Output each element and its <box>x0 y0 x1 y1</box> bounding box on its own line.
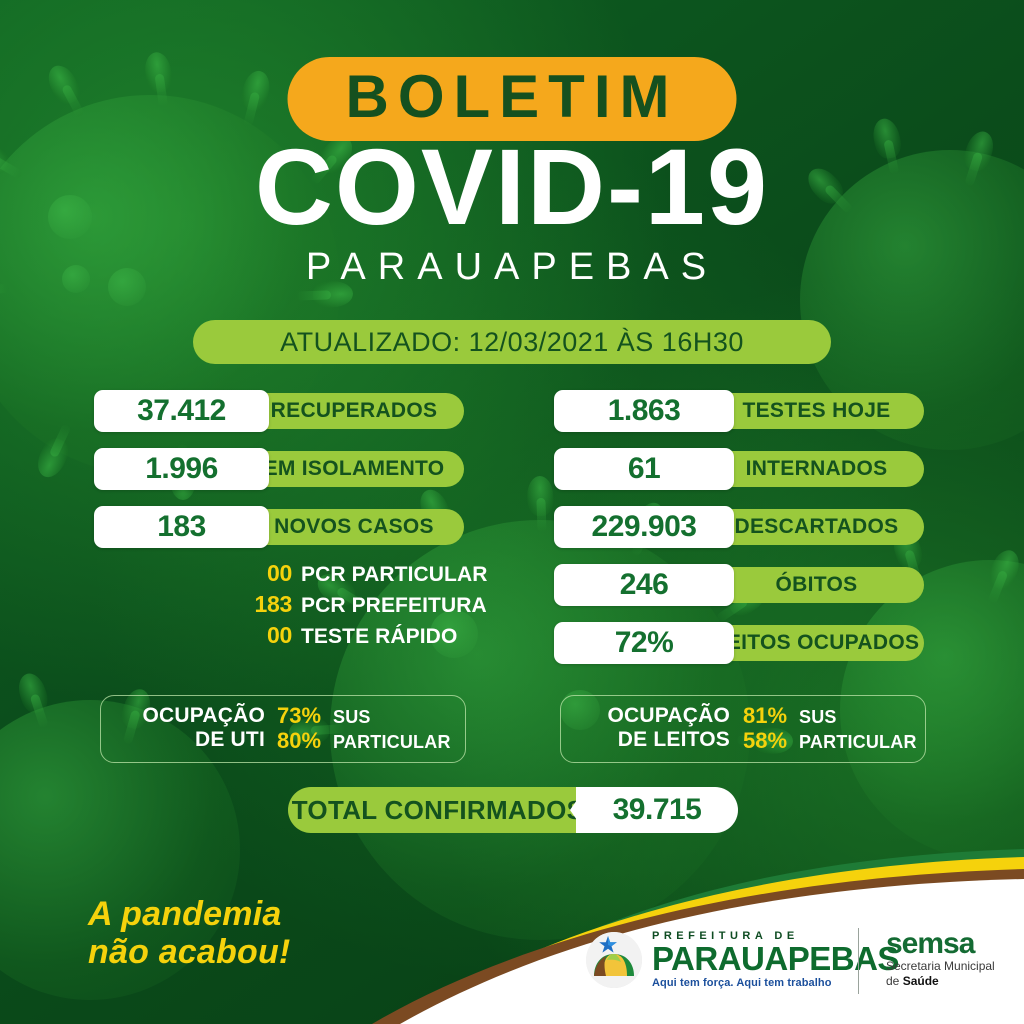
virus-spike-icon <box>43 61 85 109</box>
pcr-count: 00 <box>240 622 292 649</box>
occupancy-percent: 73% <box>277 704 333 728</box>
stat-row: LEITOS OCUPADOS 72% <box>554 622 924 662</box>
stat-row: RECUPERADOS 37.412 <box>94 390 464 430</box>
stat-label: EM ISOLAMENTO <box>264 457 445 481</box>
footer-logos: PREFEITURA DE PARAUAPEBAS Aqui tem força… <box>586 924 1006 1002</box>
stat-label-pill: DESCARTADOS <box>709 509 924 545</box>
stat-row: TESTES HOJE 1.863 <box>554 390 924 430</box>
occupancy-leitos-title-line1: OCUPAÇÃO <box>575 704 730 728</box>
stat-label: LEITOS OCUPADOS <box>714 631 920 655</box>
semsa-logo: semsa Secretaria Municipal de Saúde <box>886 928 995 989</box>
stat-value: 1.863 <box>608 394 681 428</box>
city-subtitle: PARAUAPEBAS <box>0 248 1024 286</box>
stat-value-box: 246 <box>554 564 734 606</box>
stats-column-right: TESTES HOJE 1.863 INTERNADOS 61 DESCARTA… <box>554 390 924 680</box>
stat-row: EM ISOLAMENTO 1.996 <box>94 448 464 488</box>
stat-label-pill: LEITOS OCUPADOS <box>709 625 924 661</box>
stat-value-box: 229.903 <box>554 506 734 548</box>
pcr-label: PCR PREFEITURA <box>301 594 487 618</box>
updated-timestamp-pill: ATUALIZADO: 12/03/2021 ÀS 16H30 <box>193 320 831 364</box>
occupancy-uti-title: OCUPAÇÃO DE UTI <box>115 704 265 752</box>
occupancy-row: 80% PARTICULAR <box>277 729 451 754</box>
occupancy-type: PARTICULAR <box>333 730 451 754</box>
virus-spike-icon <box>32 435 72 482</box>
occupancy-leitos-rows: 81% SUS 58% PARTICULAR <box>743 704 917 754</box>
stat-row: DESCARTADOS 229.903 <box>554 506 924 546</box>
stat-label: NOVOS CASOS <box>274 515 434 539</box>
stat-row: NOVOS CASOS 183 <box>94 506 464 546</box>
stat-label: INTERNADOS <box>746 457 888 481</box>
stat-value: 37.412 <box>137 394 226 428</box>
stat-label-pill: NOVOS CASOS <box>244 509 464 545</box>
pcr-breakdown-item: 00 PCR PARTICULAR <box>240 560 500 587</box>
stat-value-box: 1.863 <box>554 390 734 432</box>
prefeitura-logo-icon <box>586 932 642 988</box>
prefeitura-wordmark: PREFEITURA DE PARAUAPEBAS Aqui tem força… <box>652 930 899 990</box>
prefeitura-tagline: Aqui tem força. Aqui tem trabalho <box>652 976 899 990</box>
stat-label: DESCARTADOS <box>735 515 899 539</box>
footer-divider <box>858 928 859 994</box>
stat-value: 1.996 <box>145 452 218 486</box>
total-confirmed-value: 39.715 <box>613 793 702 827</box>
occupancy-uti-rows: 73% SUS 80% PARTICULAR <box>277 704 451 754</box>
total-confirmed-label-pill: TOTAL CONFIRMADOS <box>288 787 588 833</box>
stats-column-left: RECUPERADOS 37.412 EM ISOLAMENTO 1.996 N… <box>94 390 464 564</box>
stat-label: RECUPERADOS <box>271 399 438 423</box>
stat-value-box: 1.996 <box>94 448 269 490</box>
stat-label-pill: RECUPERADOS <box>244 393 464 429</box>
occupancy-percent: 80% <box>277 729 333 753</box>
stat-value-box: 61 <box>554 448 734 490</box>
footer: PREFEITURA DE PARAUAPEBAS Aqui tem força… <box>0 849 1024 1024</box>
stat-value-box: 37.412 <box>94 390 269 432</box>
pcr-breakdown-item: 183 PCR PREFEITURA <box>240 591 500 618</box>
virus-spike-icon <box>985 546 1024 593</box>
stat-label-pill: INTERNADOS <box>709 451 924 487</box>
stat-value: 183 <box>157 510 206 544</box>
updated-timestamp-text: ATUALIZADO: 12/03/2021 ÀS 16H30 <box>280 327 744 357</box>
stat-label-pill: TESTES HOJE <box>709 393 924 429</box>
semsa-line1: Secretaria Municipal <box>886 959 995 974</box>
occupancy-uti-title-line1: OCUPAÇÃO <box>115 704 265 728</box>
stat-value-box: 183 <box>94 506 269 548</box>
prefeitura-globe-svg <box>586 932 642 988</box>
stat-label: ÓBITOS <box>776 573 858 597</box>
occupancy-type: PARTICULAR <box>799 730 917 754</box>
pcr-count: 00 <box>240 560 292 587</box>
stat-value: 72% <box>615 626 674 660</box>
virus-spike-icon <box>238 68 273 113</box>
semsa-line2: de Saúde <box>886 974 995 989</box>
occupancy-row: 58% PARTICULAR <box>743 729 917 754</box>
occupancy-type: SUS <box>799 705 837 729</box>
virus-spike-icon <box>527 476 554 517</box>
stat-row: ÓBITOS 246 <box>554 564 924 604</box>
stat-label: TESTES HOJE <box>742 399 890 423</box>
occupancy-uti-title-line2: DE UTI <box>115 728 265 752</box>
occupancy-percent: 81% <box>743 704 799 728</box>
virus-spike-icon <box>143 51 174 94</box>
pcr-label: TESTE RÁPIDO <box>301 625 457 649</box>
covid-bulletin-poster: BOLETIM COVID-19 PARAUAPEBAS ATUALIZADO:… <box>0 0 1024 1024</box>
occupancy-type: SUS <box>333 705 371 729</box>
page-title: COVID-19 <box>0 133 1024 241</box>
stat-value: 246 <box>620 568 669 602</box>
occupancy-leitos-title: OCUPAÇÃO DE LEITOS <box>575 704 730 752</box>
occupancy-percent: 58% <box>743 729 799 753</box>
boletim-badge-label: BOLETIM <box>346 67 679 127</box>
stat-row: INTERNADOS 61 <box>554 448 924 488</box>
semsa-line2-prefix: de <box>886 974 903 988</box>
stat-value: 229.903 <box>592 510 697 544</box>
pcr-label: PCR PARTICULAR <box>301 563 488 587</box>
prefeitura-name: PARAUAPEBAS <box>652 942 899 976</box>
virus-spike-icon <box>14 670 51 716</box>
stat-value-box: 72% <box>554 622 734 664</box>
total-confirmed-value-box: 39.715 <box>576 787 738 833</box>
total-confirmed-label: TOTAL CONFIRMADOS <box>292 795 585 826</box>
pcr-count: 183 <box>240 591 292 618</box>
occupancy-row: 81% SUS <box>743 704 917 729</box>
stat-value: 61 <box>628 452 660 486</box>
occupancy-row: 73% SUS <box>277 704 451 729</box>
semsa-name: semsa <box>886 928 995 959</box>
occupancy-leitos-box: OCUPAÇÃO DE LEITOS 81% SUS 58% PARTICULA… <box>560 695 926 763</box>
occupancy-uti-box: OCUPAÇÃO DE UTI 73% SUS 80% PARTICULAR <box>100 695 466 763</box>
semsa-line2-bold: Saúde <box>903 974 939 988</box>
total-confirmed-bar: TOTAL CONFIRMADOS 39.715 <box>288 787 738 833</box>
pcr-breakdown-list: 00 PCR PARTICULAR 183 PCR PREFEITURA 00 … <box>240 560 500 653</box>
stat-label-pill: EM ISOLAMENTO <box>244 451 464 487</box>
pcr-breakdown-item: 00 TESTE RÁPIDO <box>240 622 500 649</box>
occupancy-leitos-title-line2: DE LEITOS <box>575 728 730 752</box>
stat-label-pill: ÓBITOS <box>709 567 924 603</box>
